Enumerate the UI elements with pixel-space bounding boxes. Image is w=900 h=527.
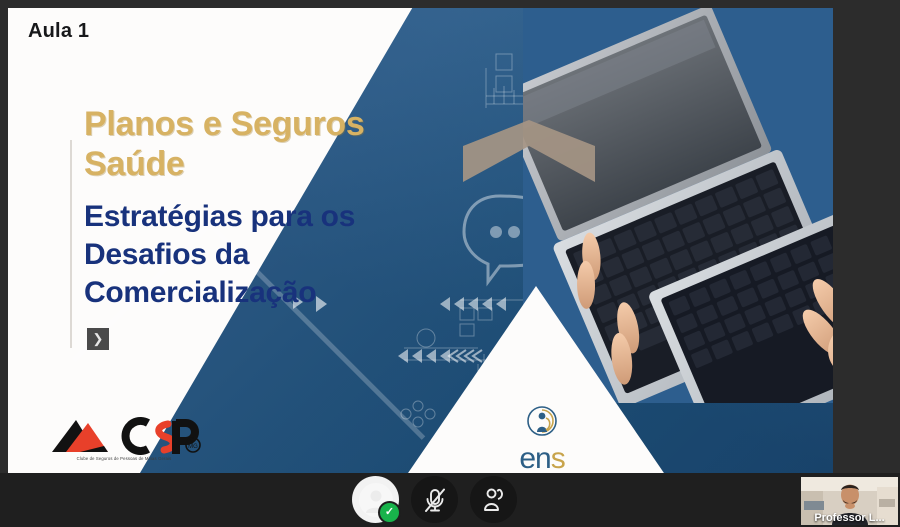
csp-logo-tagline: Clube de Seguros de Pessoas de Minas Ger… bbox=[48, 456, 200, 461]
shared-slide[interactable]: Aula 1 Planos e Seguros Saúde Estratégia… bbox=[8, 8, 833, 473]
slide-next-button[interactable]: ❯ bbox=[87, 328, 109, 350]
self-view-thumbnail[interactable]: Professor L... bbox=[801, 477, 898, 525]
slide-lesson-label: Aula 1 bbox=[28, 20, 89, 43]
ens-emblem-icon bbox=[496, 404, 588, 438]
ready-check-icon: ✓ bbox=[378, 501, 401, 524]
ens-letter-s: s bbox=[551, 442, 565, 473]
svg-text:MG: MG bbox=[188, 444, 198, 450]
microphone-muted-icon bbox=[420, 485, 450, 515]
microphone-button[interactable] bbox=[411, 476, 458, 523]
ens-wordmark: ens bbox=[496, 444, 588, 473]
slide-title-primary: Planos e Seguros Saúde bbox=[84, 104, 424, 184]
slide-accent-rule bbox=[70, 140, 72, 348]
ens-letter-n: n bbox=[535, 442, 551, 473]
raise-hand-button[interactable] bbox=[470, 476, 517, 523]
avatar-ready-button[interactable]: ✓ bbox=[352, 476, 399, 523]
ens-letter-e: e bbox=[519, 442, 535, 473]
raise-hand-icon bbox=[479, 485, 509, 515]
csp-logo: MG Clube de Seguros de Pessoas de Minas … bbox=[44, 412, 204, 470]
participant-name-label: Professor L... bbox=[801, 512, 898, 524]
meeting-stage: Aula 1 Planos e Seguros Saúde Estratégia… bbox=[0, 0, 900, 527]
slide-title-secondary: Estratégias para os Desafios da Comercia… bbox=[84, 198, 414, 311]
control-buttons: ✓ bbox=[352, 476, 517, 523]
ens-logo: ens bbox=[496, 404, 588, 472]
meeting-control-bar: ✓ bbox=[0, 473, 900, 527]
